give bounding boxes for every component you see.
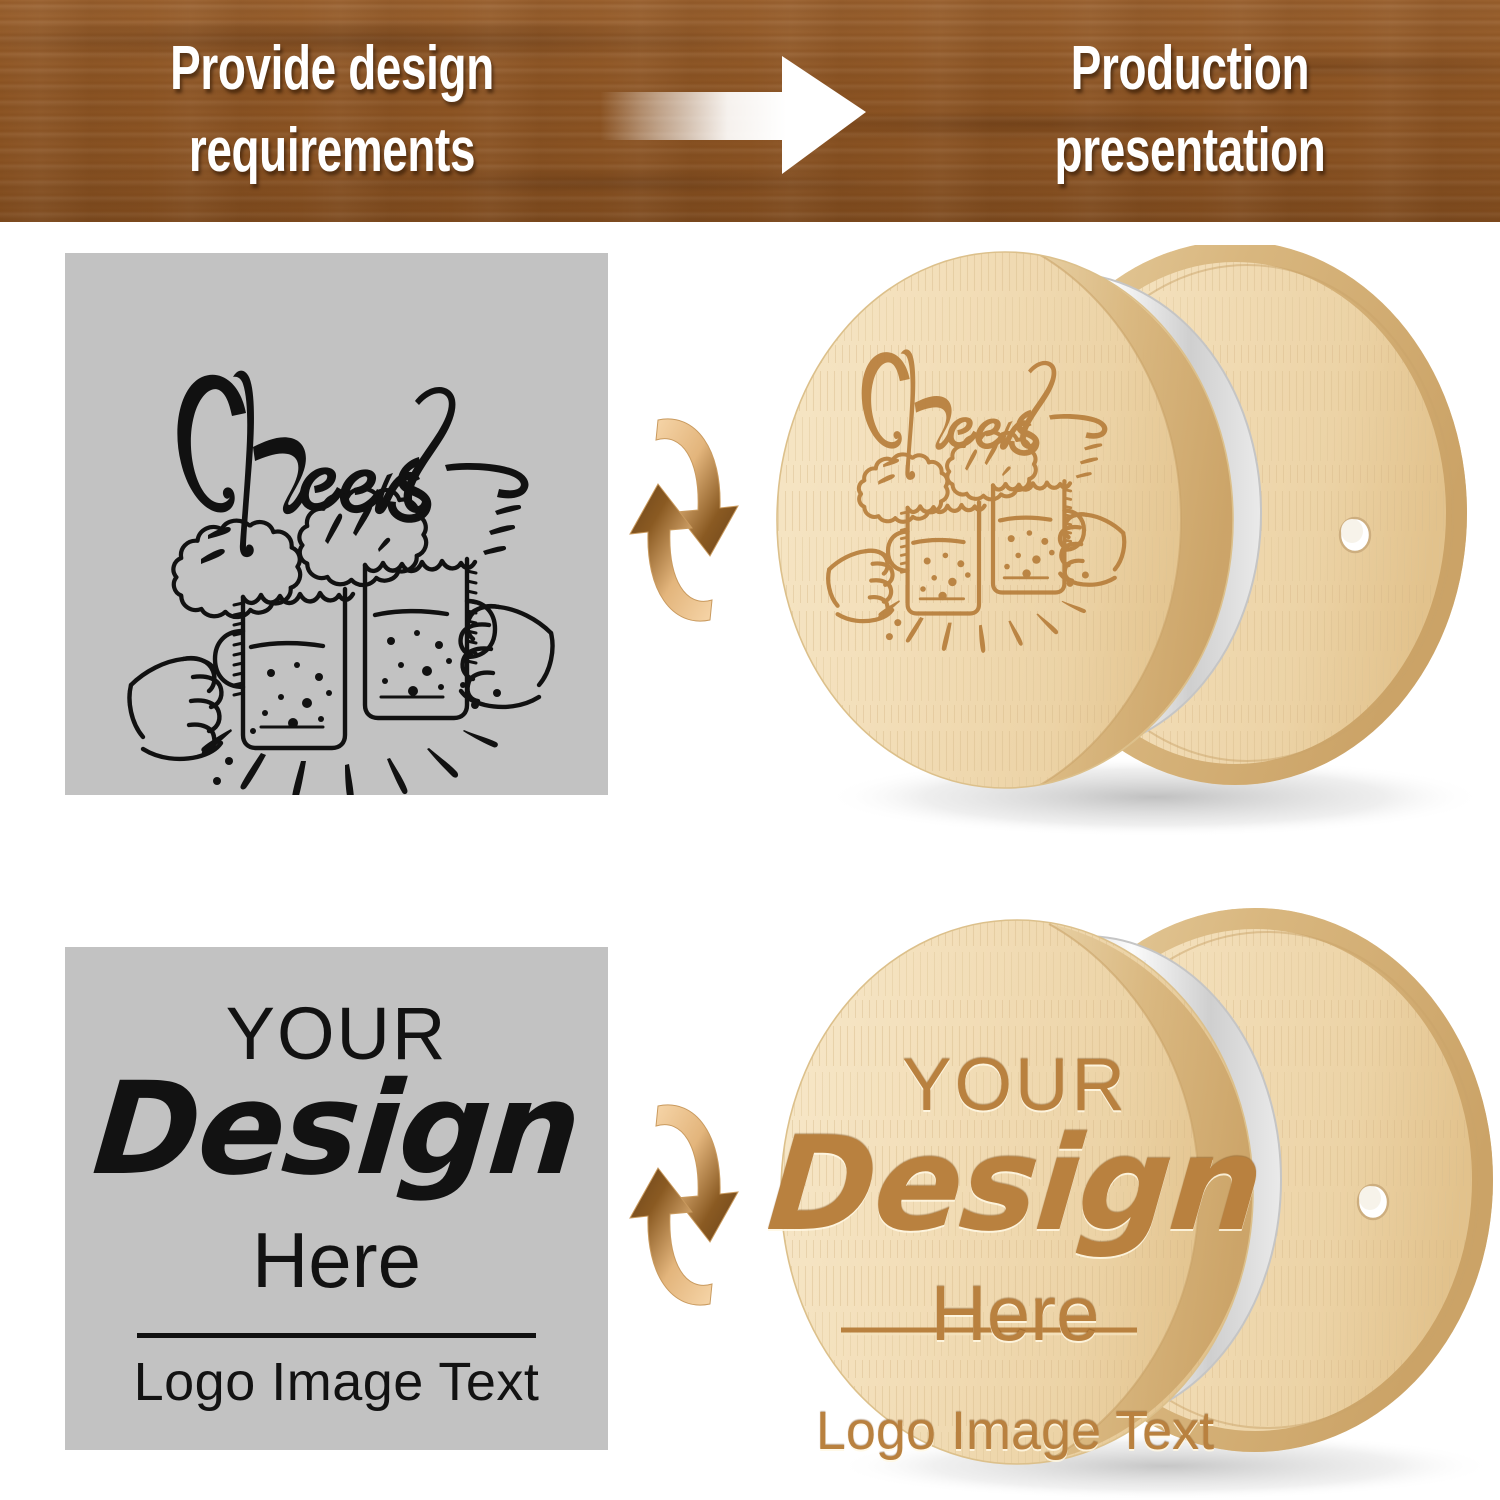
design-panel-your-design: YOUR Design Here Logo Image Text: [65, 947, 608, 1450]
header-banner: Provide design requirements Production p…: [0, 0, 1500, 222]
design-line-logo: Logo Image Text: [65, 1351, 608, 1413]
product-coaster-pair-your-design: YOUR Design Here Logo Image Text: [755, 900, 1500, 1500]
design-divider: [137, 1333, 536, 1338]
product-coaster-pair-cheers: [735, 245, 1500, 845]
design-line-here: Here: [65, 1215, 608, 1306]
rotate-flip-icon: [618, 1086, 750, 1324]
banner-left-text: Provide design requirements: [58, 28, 606, 192]
design-line-design: Design: [58, 1055, 614, 1204]
design-panel-cheers: [65, 253, 608, 795]
banner-right-text: Production presentation: [916, 28, 1464, 192]
right-arrow-icon: [600, 50, 890, 190]
rotate-flip-icon: [618, 398, 750, 642]
cheers-beer-mugs-illustration: [65, 253, 608, 795]
